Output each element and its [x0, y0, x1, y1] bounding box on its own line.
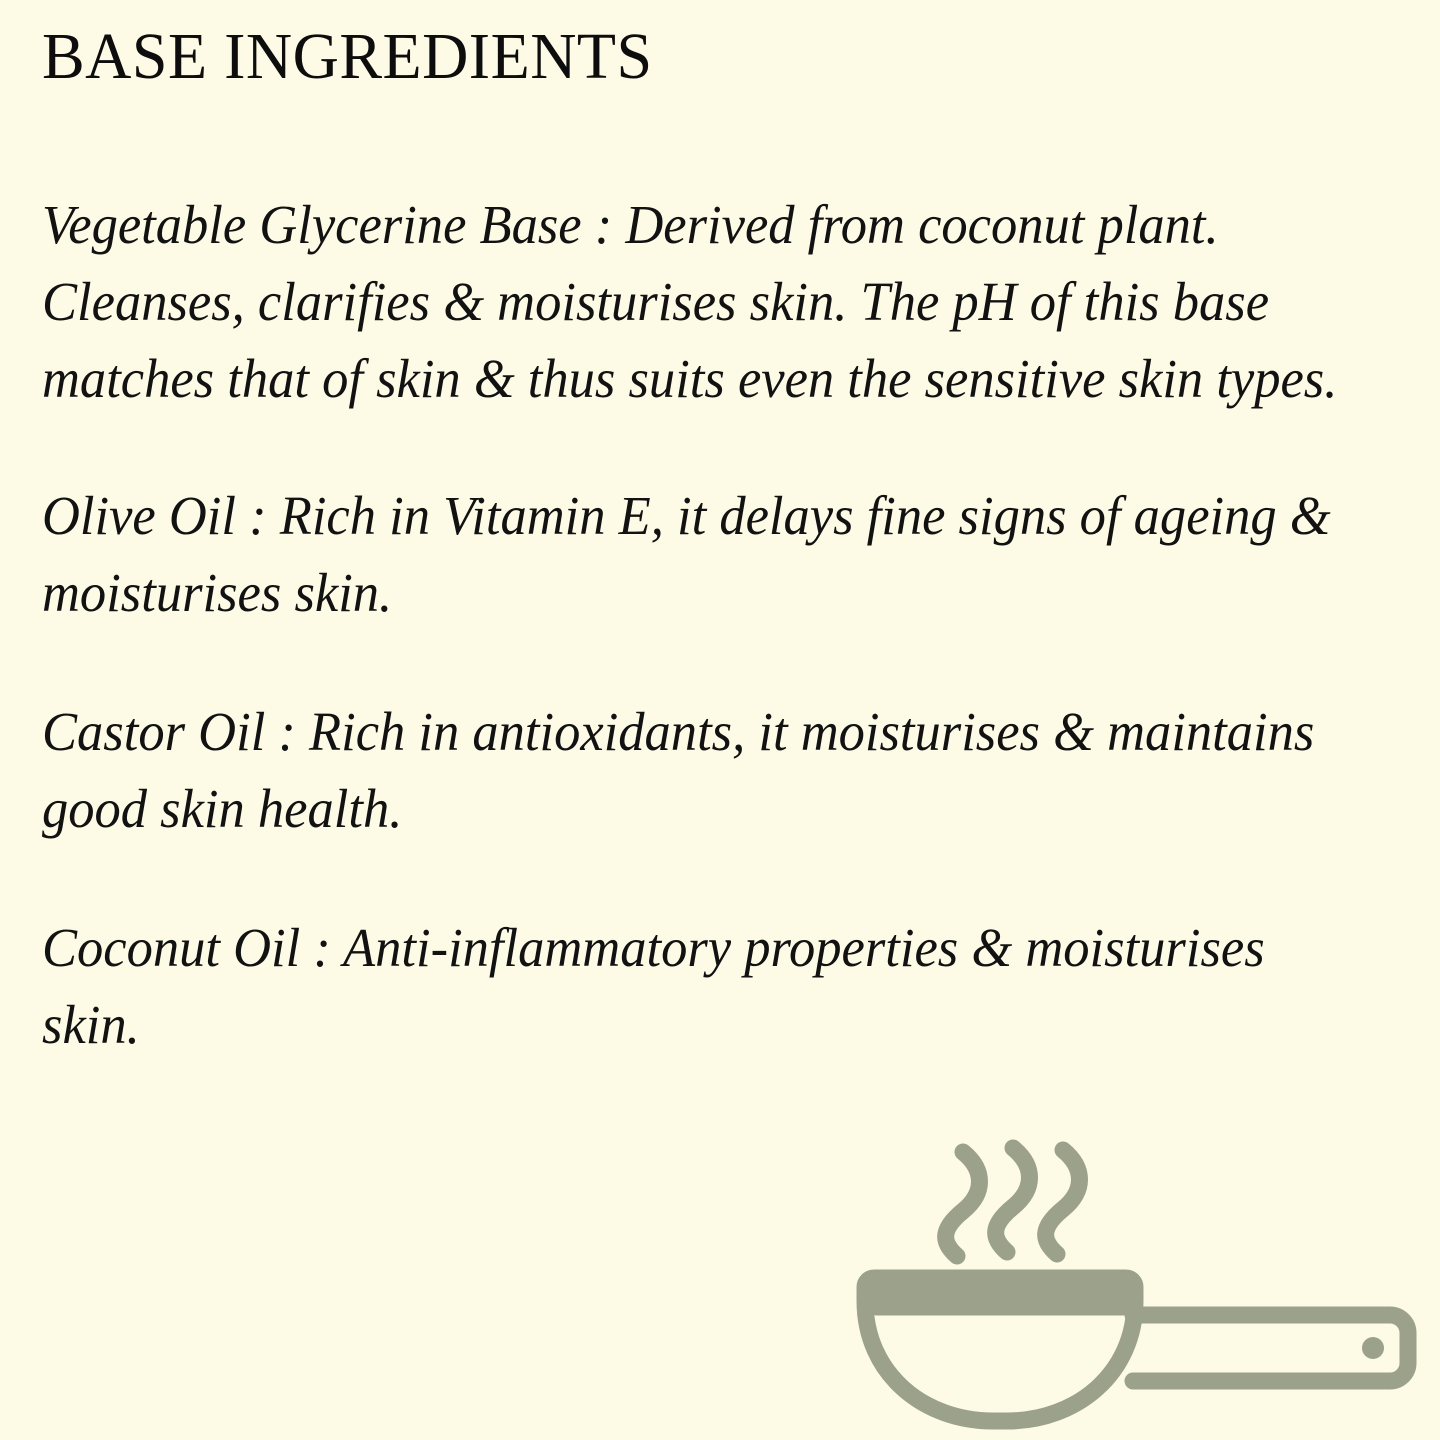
ingredient-paragraph-olive-oil: Olive Oil : Rich in Vitamin E, it delays… [42, 477, 1350, 631]
frying-pan-with-steam-icon [845, 1125, 1425, 1440]
handle-hole [1362, 1337, 1384, 1359]
ingredient-paragraph-vegetable-glycerine-base: Vegetable Glycerine Base : Derived from … [42, 186, 1350, 417]
ingredient-paragraph-castor-oil: Castor Oil : Rich in antioxidants, it mo… [42, 693, 1350, 847]
steam-lines [946, 1148, 1080, 1256]
page-title: BASE INGREDIENTS [42, 22, 653, 91]
ingredients-card: BASE INGREDIENTS Vegetable Glycerine Bas… [0, 0, 1440, 1440]
ingredient-paragraph-coconut-oil: Coconut Oil : Anti-inflammatory properti… [42, 909, 1350, 1063]
pan-body [865, 1278, 1135, 1421]
ingredients-list: Vegetable Glycerine Base : Derived from … [42, 186, 1412, 1063]
